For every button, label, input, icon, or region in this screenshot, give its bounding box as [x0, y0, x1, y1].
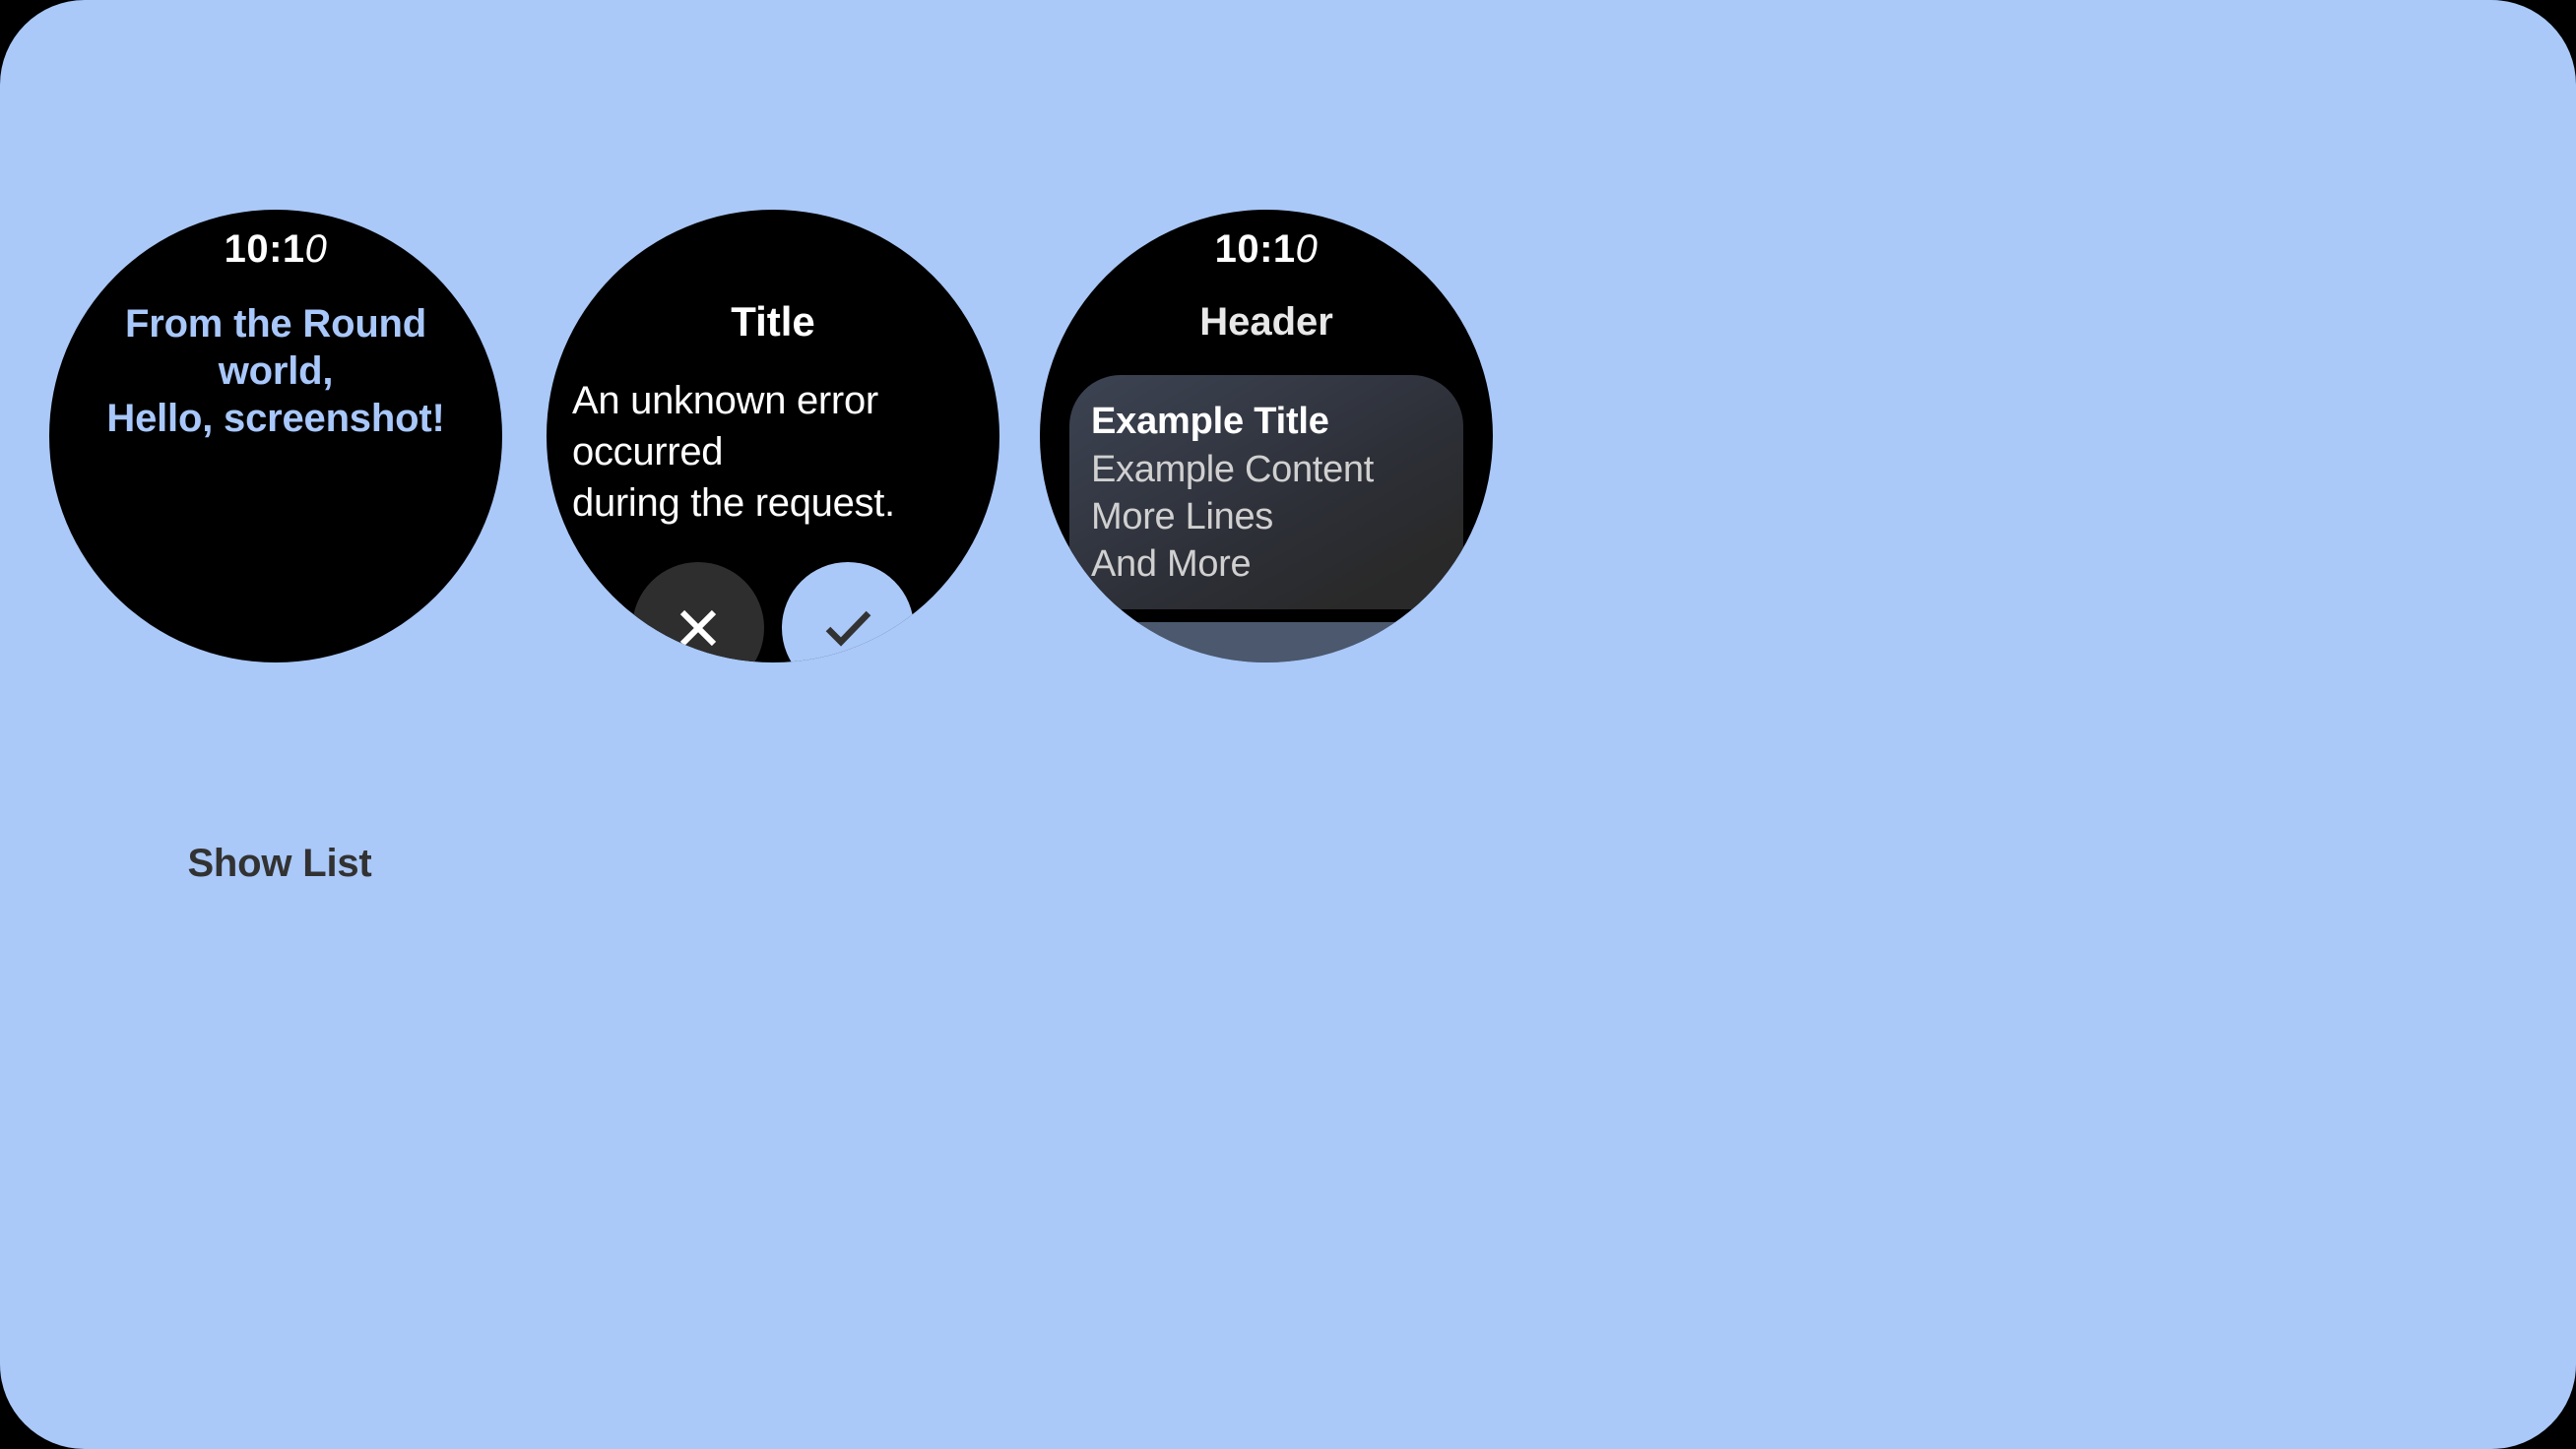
dialog-body: An unknown error occurred during the req…	[572, 375, 974, 529]
watch-2-content: Title An unknown error occurred during t…	[547, 210, 999, 662]
card-line-2: More Lines	[1091, 493, 1442, 540]
status-time: 10:10	[49, 227, 502, 272]
dialog-title: Title	[566, 298, 980, 346]
dialog-body-line-1: An unknown error occurred	[572, 375, 974, 477]
list-header: Header	[1060, 300, 1473, 345]
status-time-prefix: 10:1	[1215, 227, 1296, 271]
page-canvas: 10:10 From the Round world, Hello, scree…	[0, 0, 2576, 1449]
confirm-button[interactable]	[782, 562, 914, 662]
dialog-actions	[547, 562, 999, 662]
watch-face-alert: Title An unknown error occurred during t…	[547, 210, 999, 662]
example-card[interactable]: Example Title Example Content More Lines…	[1069, 375, 1463, 609]
status-time: 10:10	[1040, 227, 1493, 272]
card-line-3: And More	[1091, 540, 1442, 588]
card-line-1: Example Content	[1091, 446, 1442, 493]
dismiss-button[interactable]	[632, 562, 764, 662]
status-time-prefix: 10:1	[225, 227, 305, 271]
bottom-scrim-overlay	[1040, 622, 1493, 662]
dialog-body-line-2: during the request.	[572, 477, 974, 529]
watch-face-card-list: 10:10 Header Example Title Example Conte…	[1040, 210, 1493, 662]
greeting-line-3: Hello, screenshot!	[75, 395, 477, 442]
greeting-line-1: From the Round	[75, 300, 477, 347]
show-list-button[interactable]: Show List	[80, 760, 480, 967]
status-time-slant-digit: 0	[305, 227, 328, 272]
watch-face-greeting: 10:10 From the Round world, Hello, scree…	[49, 210, 502, 662]
check-icon	[813, 594, 882, 662]
greeting-text: From the Round world, Hello, screenshot!	[75, 300, 477, 442]
close-icon	[668, 598, 729, 659]
status-time-slant-digit: 0	[1296, 227, 1319, 272]
watch-1-content: 10:10 From the Round world, Hello, scree…	[49, 210, 502, 662]
card-title: Example Title	[1091, 397, 1442, 446]
watch-3-content: 10:10 Header Example Title Example Conte…	[1040, 210, 1493, 662]
greeting-line-2: world,	[75, 347, 477, 395]
